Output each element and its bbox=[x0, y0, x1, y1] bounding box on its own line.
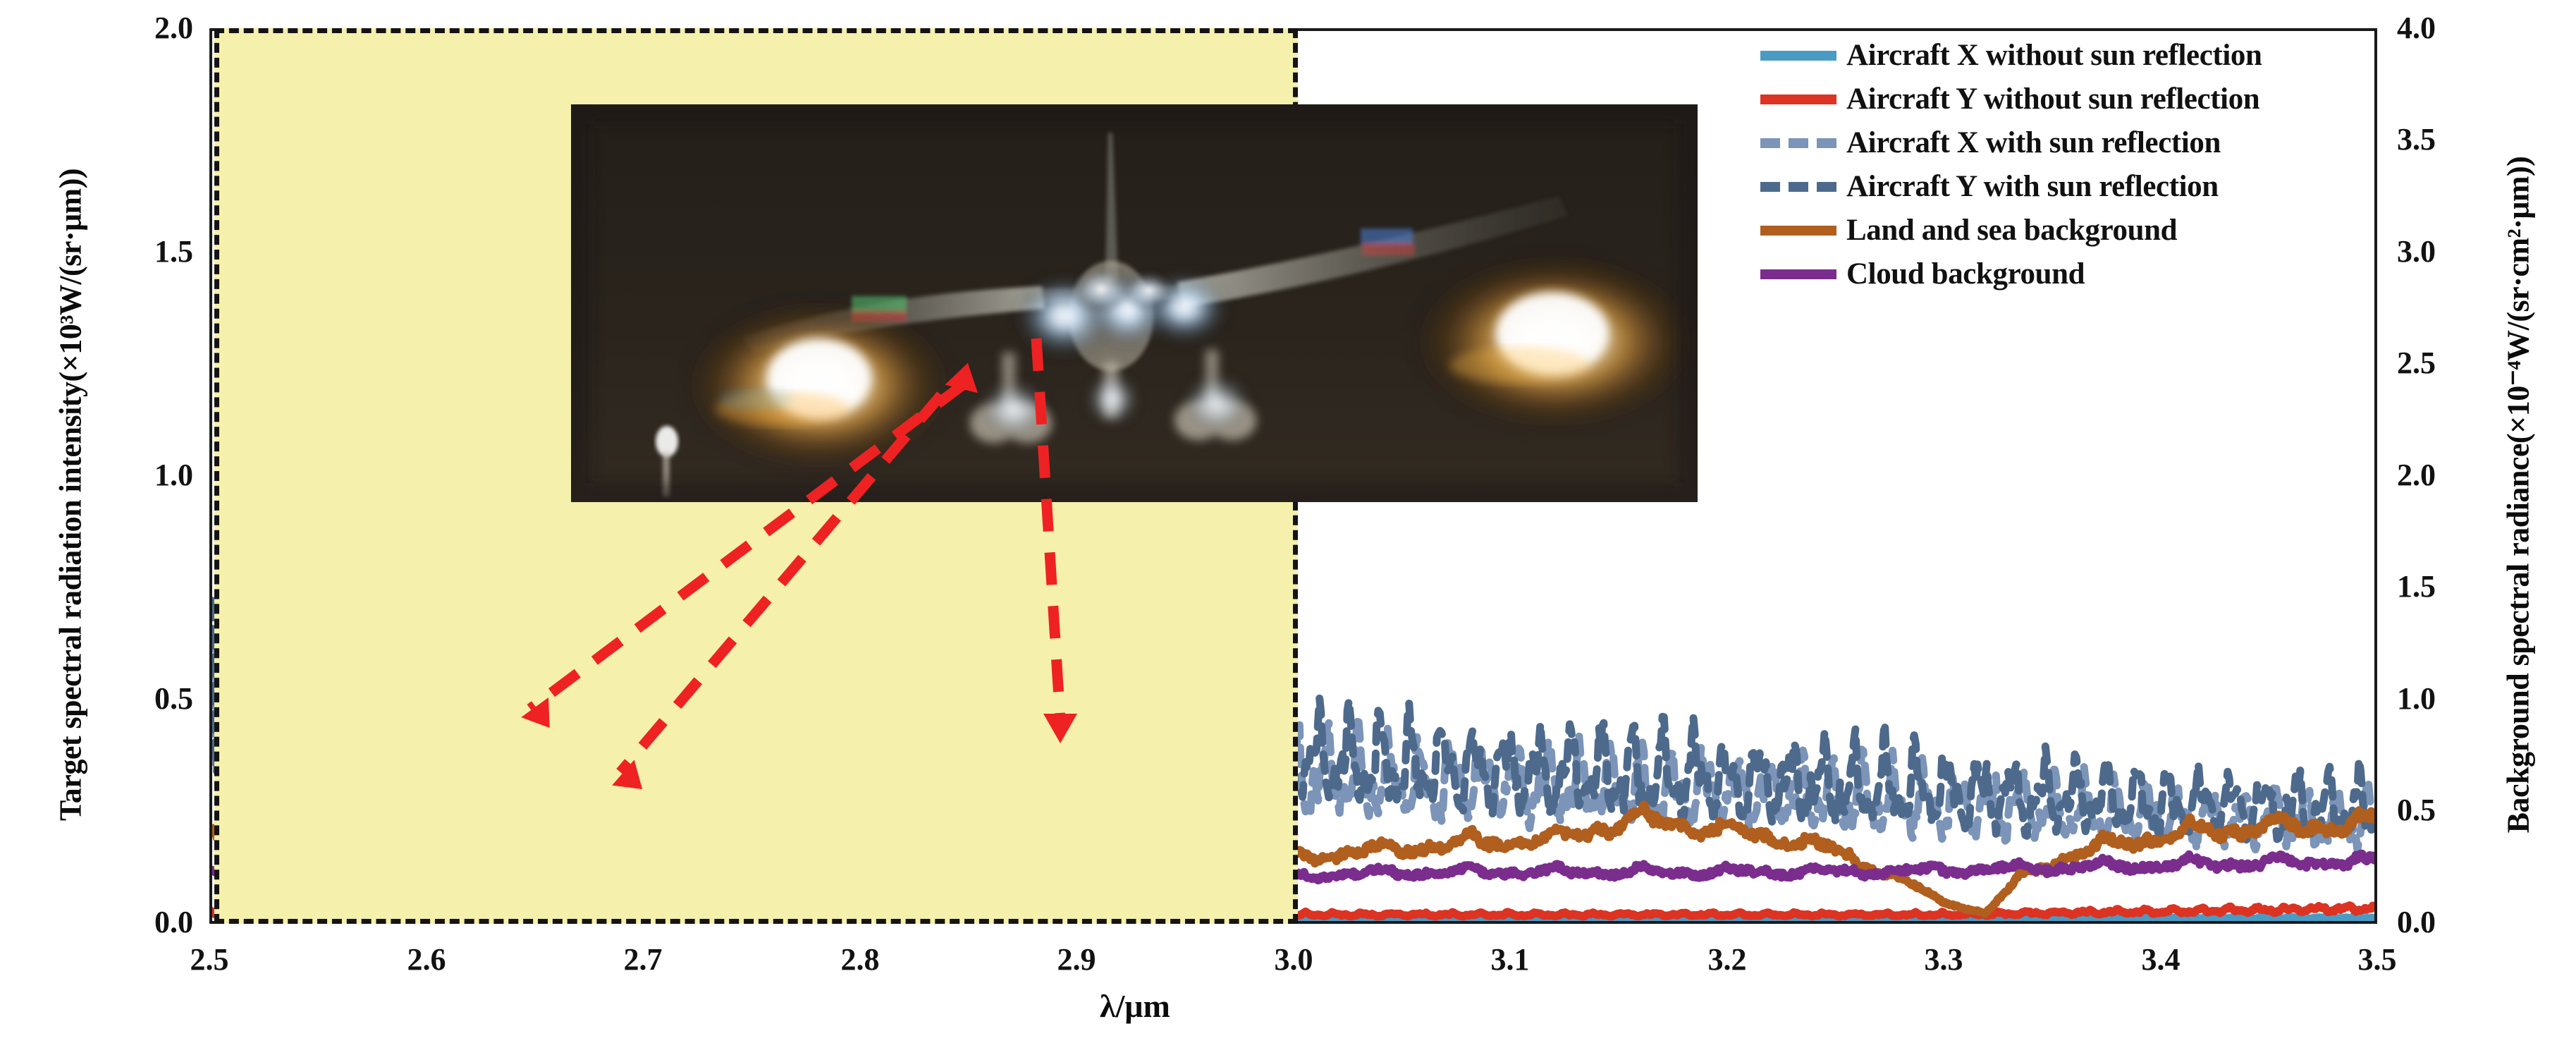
legend-item-aircraft-x-with-sun[interactable]: Aircraft X with sun reflection bbox=[1760, 124, 2262, 161]
y-axis-left-title: Target spectral radiation intensity(×10³… bbox=[53, 58, 89, 932]
y-right-tick-3.0: 3.0 bbox=[2397, 233, 2552, 269]
x-tick-2.5: 2.5 bbox=[153, 941, 266, 977]
y-left-tick-0.5: 0.5 bbox=[38, 681, 193, 716]
x-tick-3.2: 3.2 bbox=[1671, 941, 1784, 977]
legend-item-aircraft-y-without-sun[interactable]: Aircraft Y without sun reflection bbox=[1760, 80, 2262, 118]
x-tick-2.7: 2.7 bbox=[587, 941, 699, 977]
x-tick-2.8: 2.8 bbox=[804, 941, 916, 977]
y-right-tick-3.5: 3.5 bbox=[2397, 121, 2552, 157]
legend-label-aircraft-x-with-sun: Aircraft X with sun reflection bbox=[1846, 126, 2221, 160]
y-left-tick-2.0: 2.0 bbox=[38, 10, 193, 46]
y-right-tick-2.0: 2.0 bbox=[2397, 457, 2552, 493]
legend-item-aircraft-x-without-sun[interactable]: Aircraft X without sun reflection bbox=[1760, 37, 2262, 74]
legend-label-land-and-sea-background: Land and sea background bbox=[1846, 213, 2177, 248]
x-tick-3.4: 3.4 bbox=[2104, 941, 2217, 977]
legend-label-aircraft-x-without-sun: Aircraft X without sun reflection bbox=[1846, 38, 2262, 73]
legend-swatch-aircraft-x-with-sun bbox=[1760, 138, 1836, 148]
x-tick-3.1: 3.1 bbox=[1454, 941, 1566, 977]
x-tick-3.5: 3.5 bbox=[2321, 941, 2434, 977]
y-right-tick-0.0: 0.0 bbox=[2397, 904, 2552, 940]
x-tick-3.3: 3.3 bbox=[1887, 941, 2000, 977]
legend-item-cloud-background[interactable]: Cloud background bbox=[1760, 255, 2262, 293]
x-axis-title: λ/μm bbox=[1100, 987, 1170, 1025]
y-left-tick-1.5: 1.5 bbox=[38, 233, 193, 269]
legend-swatch-land-and-sea-background bbox=[1760, 226, 1836, 236]
legend: Aircraft X without sun reflection Aircra… bbox=[1760, 37, 2262, 299]
legend-label-aircraft-y-without-sun: Aircraft Y without sun reflection bbox=[1846, 82, 2259, 116]
x-tick-2.6: 2.6 bbox=[370, 941, 483, 977]
y-right-tick-2.5: 2.5 bbox=[2397, 345, 2552, 381]
aircraft-night-photo-inset bbox=[571, 104, 1698, 502]
aircraft-photo-svg bbox=[571, 104, 1698, 502]
legend-swatch-aircraft-x-without-sun bbox=[1760, 51, 1836, 61]
legend-swatch-aircraft-y-with-sun bbox=[1760, 182, 1836, 192]
y-right-tick-1.5: 1.5 bbox=[2397, 568, 2552, 604]
y-right-tick-0.5: 0.5 bbox=[2397, 792, 2552, 828]
legend-label-cloud-background: Cloud background bbox=[1846, 257, 2085, 291]
x-tick-3.0: 3.0 bbox=[1237, 941, 1350, 977]
legend-label-aircraft-y-with-sun: Aircraft Y with sun reflection bbox=[1846, 169, 2219, 204]
chart-figure: Target spectral radiation intensity(×10³… bbox=[0, 0, 2576, 1043]
y-left-tick-1.0: 1.0 bbox=[38, 457, 193, 493]
x-tick-2.9: 2.9 bbox=[1020, 941, 1133, 977]
legend-swatch-aircraft-y-without-sun bbox=[1760, 94, 1836, 104]
legend-item-aircraft-y-with-sun[interactable]: Aircraft Y with sun reflection bbox=[1760, 168, 2262, 205]
y-right-tick-4.0: 4.0 bbox=[2397, 10, 2552, 46]
legend-item-land-and-sea-background[interactable]: Land and sea background bbox=[1760, 212, 2262, 249]
legend-swatch-cloud-background bbox=[1760, 269, 1836, 279]
y-left-tick-0.0: 0.0 bbox=[38, 904, 193, 940]
y-right-tick-1.0: 1.0 bbox=[2397, 681, 2552, 716]
